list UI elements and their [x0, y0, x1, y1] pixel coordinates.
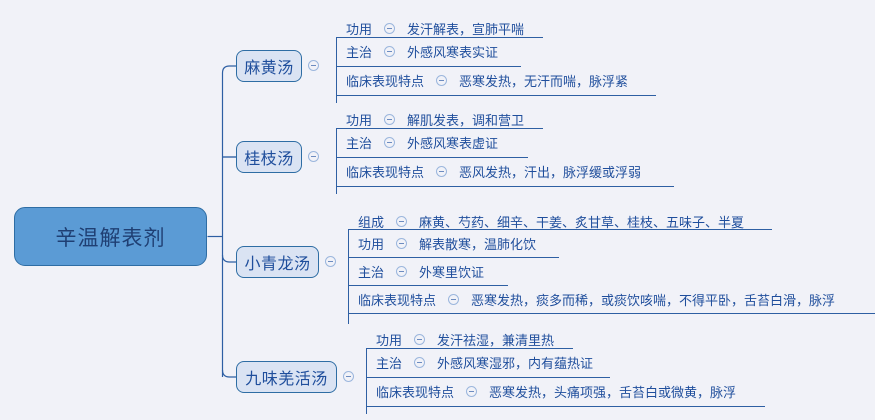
branch-node-mahuangtang[interactable]: 麻黄汤: [236, 50, 302, 82]
detail-row[interactable]: 主治 外寒里饮证: [348, 257, 484, 286]
collapse-minus-icon[interactable]: [396, 266, 407, 277]
collapse-minus-icon-branch-guizhitang[interactable]: [308, 151, 319, 162]
collapse-minus-icon[interactable]: [436, 166, 447, 177]
row-underline: [366, 406, 765, 407]
detail-row-key: 功用: [346, 19, 372, 38]
detail-row-key: 功用: [358, 234, 384, 253]
detail-row-key: 主治: [376, 353, 402, 372]
detail-row-key: 主治: [346, 133, 372, 152]
detail-row-content: 临床表现特点 恶风发热，汗出，脉浮缓或浮弱: [336, 162, 641, 181]
detail-row-value: 恶寒发热，无汗而喘，脉浮紧: [459, 71, 628, 90]
branch-node-label: 小青龙汤: [244, 250, 310, 274]
detail-row-value: 恶寒发热，头痛项强，舌苔白或微黄，脉浮: [489, 382, 736, 401]
detail-row-content: 主治 外感风寒表实证: [336, 42, 498, 61]
detail-row-content: 功用 解肌发表，调和营卫: [336, 110, 524, 129]
detail-row-value: 外寒里饮证: [419, 262, 484, 281]
branch-node-label: 桂枝汤: [244, 145, 294, 169]
branch-node-jiuweiqianghuotang[interactable]: 九味羌活汤: [236, 361, 337, 393]
detail-row[interactable]: 主治 外感风寒表实证: [336, 37, 498, 66]
detail-row-value: 解表散寒，温肺化饮: [419, 234, 536, 253]
collapse-minus-icon[interactable]: [396, 238, 407, 249]
collapse-minus-icon[interactable]: [466, 386, 477, 397]
row-underline: [336, 186, 674, 187]
collapse-minus-icon[interactable]: [384, 137, 395, 148]
collapse-minus-icon[interactable]: [384, 23, 395, 34]
detail-row[interactable]: 临床表现特点 恶寒发热，痰多而稀，或痰饮咳喘，不得平卧，舌苔白滑，脉浮: [348, 285, 835, 314]
detail-row[interactable]: 临床表现特点 恶寒发热，头痛项强，舌苔白或微黄，脉浮: [366, 377, 736, 406]
detail-row[interactable]: 主治 外感风寒湿邪，内有蕴热证: [366, 348, 593, 377]
collapse-minus-icon-branch-xiaoqinglongtang[interactable]: [325, 256, 336, 267]
detail-row-value: 发汗解表，宣肺平喘: [407, 19, 524, 38]
detail-row-key: 功用: [346, 110, 372, 129]
detail-row-value: 解肌发表，调和营卫: [407, 110, 524, 129]
detail-row-key: 临床表现特点: [376, 382, 454, 401]
branch-node-guizhitang[interactable]: 桂枝汤: [236, 141, 302, 173]
row-underline: [336, 95, 656, 96]
branch-node-label: 麻黄汤: [244, 54, 294, 78]
detail-row-value: 恶风发热，汗出，脉浮缓或浮弱: [459, 162, 641, 181]
root-node-label: 辛温解表剂: [56, 222, 166, 252]
root-node[interactable]: 辛温解表剂: [14, 207, 207, 266]
detail-row-key: 主治: [358, 262, 384, 281]
detail-row-content: 主治 外感风寒湿邪，内有蕴热证: [366, 353, 593, 372]
collapse-minus-icon[interactable]: [414, 334, 425, 345]
branch-node-xiaoqinglongtang[interactable]: 小青龙汤: [236, 246, 319, 278]
detail-row[interactable]: 临床表现特点 恶风发热，汗出，脉浮缓或浮弱: [336, 157, 641, 186]
branch-node-label: 九味羌活汤: [245, 365, 328, 389]
detail-row[interactable]: 功用 解表散寒，温肺化饮: [348, 229, 536, 258]
collapse-minus-icon[interactable]: [414, 357, 425, 368]
detail-row-key: 临床表现特点: [346, 71, 424, 90]
detail-row-value: 恶寒发热，痰多而稀，或痰饮咳喘，不得平卧，舌苔白滑，脉浮: [471, 290, 835, 309]
detail-row-key: 临床表现特点: [358, 290, 436, 309]
detail-row-content: 临床表现特点 恶寒发热，痰多而稀，或痰饮咳喘，不得平卧，舌苔白滑，脉浮: [348, 290, 835, 309]
collapse-minus-icon[interactable]: [384, 114, 395, 125]
row-underline: [348, 313, 875, 314]
detail-row-key: 功用: [376, 330, 402, 349]
detail-row[interactable]: 临床表现特点 恶寒发热，无汗而喘，脉浮紧: [336, 66, 628, 95]
detail-row-value: 外感风寒表实证: [407, 42, 498, 61]
detail-row-content: 临床表现特点 恶寒发热，无汗而喘，脉浮紧: [336, 71, 628, 90]
detail-row-value: 外感风寒表虚证: [407, 133, 498, 152]
collapse-minus-icon[interactable]: [436, 75, 447, 86]
collapse-minus-icon[interactable]: [384, 46, 395, 57]
detail-row-content: 主治 外寒里饮证: [348, 262, 484, 281]
detail-row[interactable]: 主治 外感风寒表虚证: [336, 128, 498, 157]
detail-row-value: 外感风寒湿邪，内有蕴热证: [437, 353, 593, 372]
detail-row-content: 功用 发汗解表，宣肺平喘: [336, 19, 524, 38]
collapse-minus-icon-branch-jiuweiqianghuotang[interactable]: [343, 371, 354, 382]
detail-row-content: 功用 发汗祛湿，兼清里热: [366, 330, 554, 349]
detail-row-content: 主治 外感风寒表虚证: [336, 133, 498, 152]
detail-row-content: 功用 解表散寒，温肺化饮: [348, 234, 536, 253]
detail-row-value: 发汗祛湿，兼清里热: [437, 330, 554, 349]
collapse-minus-icon[interactable]: [448, 294, 459, 305]
collapse-minus-icon[interactable]: [396, 216, 407, 227]
mindmap-canvas: 辛温解表剂 麻黄汤 功用 发汗解表，宣肺平喘 主治 外感风寒表实证 临床表现特点: [0, 0, 875, 420]
detail-row-content: 临床表现特点 恶寒发热，头痛项强，舌苔白或微黄，脉浮: [366, 382, 736, 401]
detail-row-key: 临床表现特点: [346, 162, 424, 181]
collapse-minus-icon-branch-mahuangtang[interactable]: [308, 60, 319, 71]
detail-row-key: 主治: [346, 42, 372, 61]
